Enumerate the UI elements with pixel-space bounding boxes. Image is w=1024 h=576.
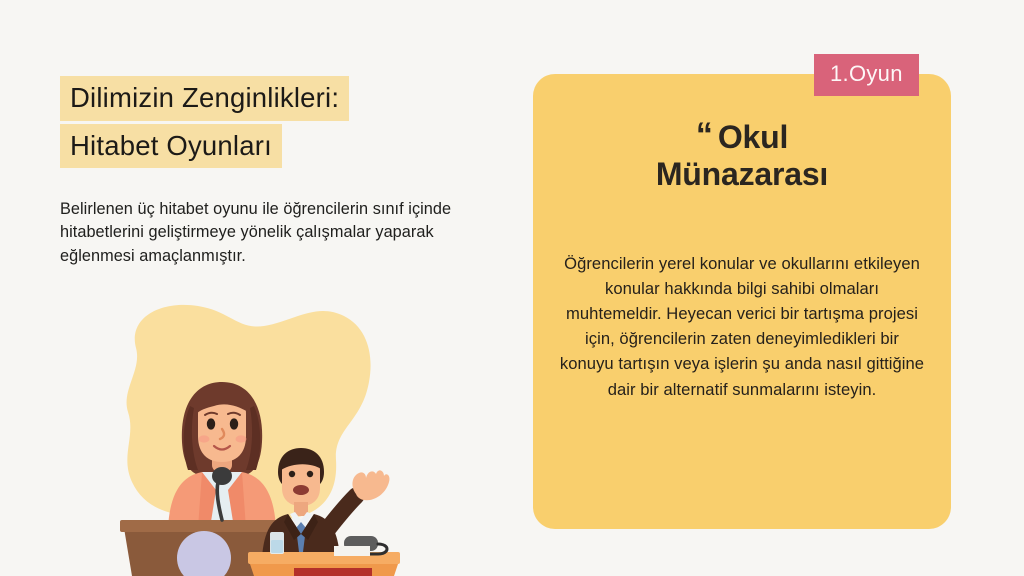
lead-paragraph: Belirlenen üç hitabet oyunu ile öğrencil… <box>60 198 480 267</box>
game-card-heading: “Okul Münazarası <box>559 118 925 193</box>
desk-papers <box>334 546 370 556</box>
quote-icon: “ <box>696 116 712 154</box>
status-badge: 1.Oyun <box>814 54 919 96</box>
game-card-heading-line-1: Okul <box>718 119 788 155</box>
game-card-body: Öğrencilerin yerel konular ve okullarını… <box>557 251 927 402</box>
public-speaking-illustration <box>98 296 408 576</box>
page-title: Dilimizin Zenginlikleri: Hitabet Oyunlar… <box>60 76 480 168</box>
game-card-heading-line-2: Münazarası <box>656 156 828 192</box>
water-glass <box>270 532 284 554</box>
page-title-line-1: Dilimizin Zenginlikleri: <box>60 76 349 121</box>
desk-front-panel <box>294 568 372 576</box>
left-column: Dilimizin Zenginlikleri: Hitabet Oyunlar… <box>0 0 510 576</box>
game-card: “Okul Münazarası Öğrencilerin yerel konu… <box>533 74 951 529</box>
slide-root: Dilimizin Zenginlikleri: Hitabet Oyunlar… <box>0 0 1024 576</box>
page-title-line-2: Hitabet Oyunları <box>60 124 282 169</box>
desk <box>248 552 400 576</box>
